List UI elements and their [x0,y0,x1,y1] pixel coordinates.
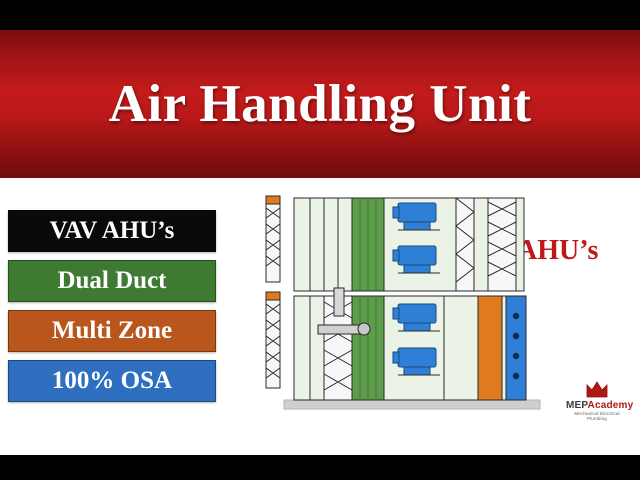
coil-nozzle-2 [513,333,519,339]
content-area: VAV AHU’s Dual Duct Multi Zone 100% OSA … [0,178,640,455]
label-chip-dual-duct-text: Dual Duct [57,267,166,295]
coil-nozzle-3 [513,353,519,359]
oa-damper-top-cap [266,196,280,204]
fan-motor-upper2-body [398,246,436,265]
shaft-coupling [334,288,344,316]
label-chip-multi-zone[interactable]: Multi Zone [8,310,216,352]
fan-motor-return-base [404,367,430,375]
fan-motor-upper-endcap [393,207,399,218]
fan-motor-return-endcap [393,352,399,363]
fan-motor-upper2-base [404,265,430,273]
fan-motor-upper-base [404,222,430,230]
letterbox-bottom [0,455,640,480]
outside-air-damper-top [266,196,280,282]
fan-motor-upper2-endcap [393,250,399,261]
label-stack: VAV AHU’s Dual Duct Multi Zone 100% OSA [8,210,216,410]
discharge-damper-upper [488,198,516,291]
floor-base [284,400,540,409]
logo-tagline: Mechanical Electrical Plumbing [566,411,628,421]
coil-nozzle-1 [513,313,519,319]
logo-glyph-icon [584,378,610,400]
label-chip-dual-duct[interactable]: Dual Duct [8,260,216,302]
logo-name-accent: Academy [588,400,634,411]
label-chip-vav[interactable]: VAV AHU’s [8,210,216,252]
filter-upper-frame [456,198,474,291]
letterbox-top [0,0,640,30]
brand-logo: MEPAcademy Mechanical Electrical Plumbin… [566,378,628,421]
label-chip-osa-text: 100% OSA [52,367,172,395]
ahu-diagram [248,188,548,433]
logo-name-main: MEP [566,400,588,411]
shaft-bearing [358,323,370,335]
logo-mark-icon [584,378,610,400]
outside-air-damper-bottom [266,292,280,388]
page-title: Air Handling Unit [109,74,532,134]
label-chip-osa[interactable]: 100% OSA [8,360,216,402]
fan-motor-upper-body [398,203,436,222]
label-chip-multi-zone-text: Multi Zone [52,317,172,345]
filter-bank-upper [456,198,474,291]
logo-name: MEPAcademy [566,401,628,411]
fan-motor-lower-endcap [393,308,399,319]
coil-nozzle-4 [513,373,519,379]
fan-motor-lower-body [398,304,436,323]
fan-motor-lower-base [404,323,430,331]
shaft-rod [318,325,364,334]
logo-shape [587,382,607,397]
cooling-coil [506,296,526,400]
humidifier-section [478,296,502,400]
screenshot-root: Air Handling Unit VAV AHU’s Dual Duct Mu… [0,0,640,480]
fan-motor-return-body [398,348,436,367]
ahu-diagram-svg [248,188,548,433]
oa-damper-bottom-cap [266,292,280,300]
label-chip-vav-text: VAV AHU’s [50,217,175,245]
oa-damper-top-frame [266,204,280,282]
title-banner: Air Handling Unit [0,30,640,178]
